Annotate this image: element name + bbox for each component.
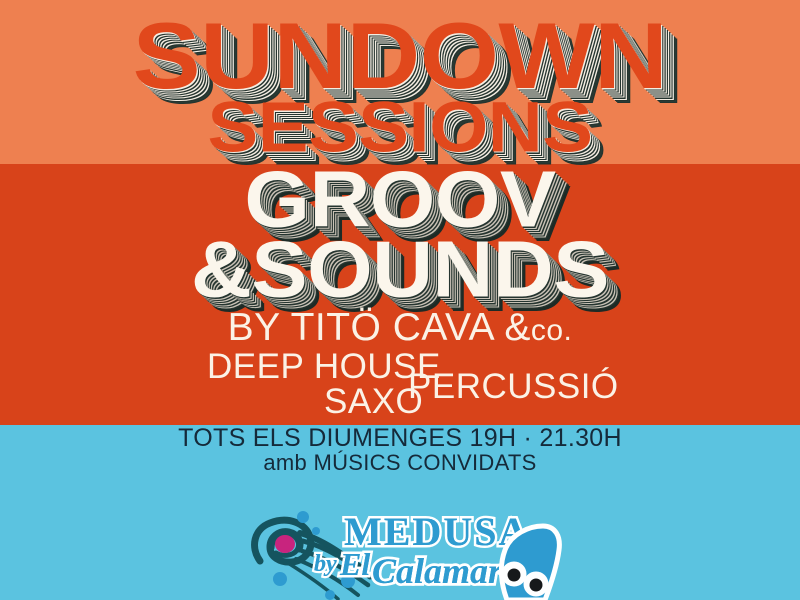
squid-mascot — [497, 522, 579, 600]
logo-by-text-fill: by — [314, 551, 337, 577]
headline-line-sundown-wrap: SUNDOWN — [0, 14, 800, 95]
schedule-line: TOTS ELS DIUMENGES 19H · 21.30H — [0, 424, 800, 453]
squid-icon — [501, 526, 559, 600]
genre-percussio: PERCUSSIÓ — [408, 367, 619, 407]
guest-musicians-line: amb MÚSICS CONVIDATS — [0, 450, 800, 476]
headline-line-groov-wrap: GROOV — [0, 163, 800, 231]
logo-el-text-fill: El — [339, 546, 370, 582]
headline-line-sessions: SESSIONS — [0, 95, 800, 161]
logo-calamar-text-fill: Calamar — [372, 551, 503, 591]
artist-credit-line: BY TITÖ CAVA &co. — [0, 306, 800, 350]
headline-line-sounds: &SOUNDS — [0, 233, 800, 307]
artist-credit-prefix: BY TITÖ CAVA & — [228, 306, 531, 349]
artist-credit-suffix: co. — [531, 314, 573, 347]
poster-canvas: SUNDOWN SESSIONS GROOV &SOUNDS BY TITÖ C… — [0, 0, 800, 600]
headline-line-sessions-wrap: SESSIONS — [0, 95, 800, 158]
genre-saxo: SAXO — [324, 382, 423, 422]
genre-deep-house: DEEP HOUSE — [207, 347, 441, 387]
headline-line-sounds-wrap: &SOUNDS — [0, 233, 800, 301]
